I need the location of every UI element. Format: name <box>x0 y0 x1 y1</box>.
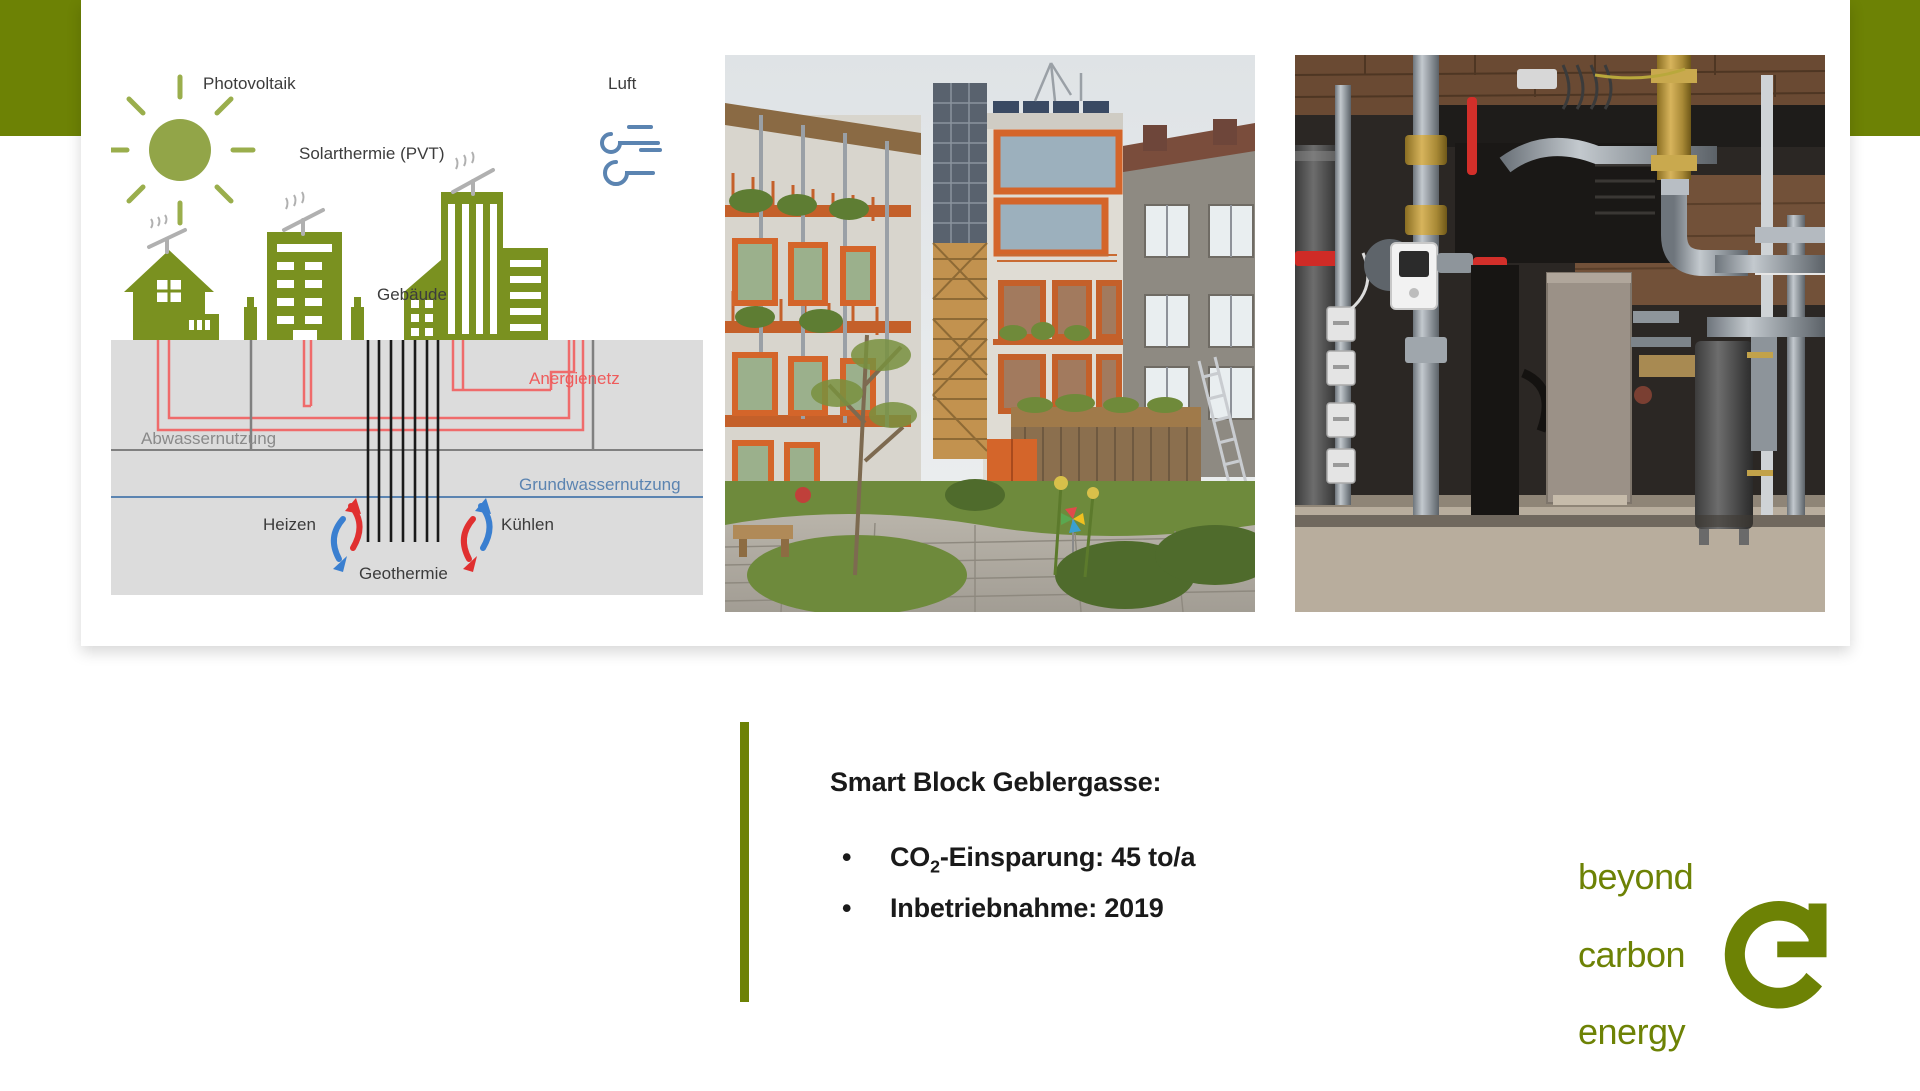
photo-plantroom <box>1295 55 1825 612</box>
caption-title: Smart Block Geblergasse: <box>830 722 1430 798</box>
corner-block-right <box>1850 0 1920 136</box>
brand-logo: beyond carbon energy <box>1578 890 1878 1020</box>
label-grundwassernutzung: Grundwassernutzung <box>519 475 681 494</box>
corner-block-left <box>0 0 81 136</box>
bullet-co2-suffix: -Einsparung: 45 to/a <box>940 842 1196 872</box>
label-geothermie: Geothermie <box>359 564 448 583</box>
logo-line-1: beyond <box>1578 858 1693 897</box>
logo-line-3: energy <box>1578 1013 1693 1052</box>
e-mark-icon <box>1719 899 1831 1011</box>
media-card: .dlbl { font-family:"Liberation Sans", s… <box>81 0 1850 646</box>
caption-accent-bar <box>740 722 749 1002</box>
photo-courtyard <box>725 55 1255 612</box>
label-solarthermie: Solarthermie (PVT) <box>299 144 444 163</box>
energy-concept-diagram: .dlbl { font-family:"Liberation Sans", s… <box>111 42 703 599</box>
logo-line-2: carbon <box>1578 936 1693 975</box>
bullet-co2-subscript: 2 <box>930 856 940 876</box>
bullet-marker: • <box>842 844 890 871</box>
label-luft: Luft <box>608 74 637 93</box>
label-kuehlen: Kühlen <box>501 515 554 534</box>
media-row: .dlbl { font-family:"Liberation Sans", s… <box>81 0 1850 646</box>
list-item: • CO2-Einsparung: 45 to/a <box>830 842 1430 877</box>
label-heizen: Heizen <box>263 515 316 534</box>
label-abwassernutzung: Abwassernutzung <box>141 429 276 448</box>
label-gebaeude: Gebäude <box>377 285 447 304</box>
label-anergienetz: Anergienetz <box>529 369 620 388</box>
bullet-co2-prefix: CO <box>890 842 930 872</box>
label-photovoltaik: Photovoltaik <box>203 74 296 93</box>
caption-bullet-list: • CO2-Einsparung: 45 to/a • Inbetriebnah… <box>830 798 1430 924</box>
bullet-label-commissioning: Inbetriebnahme: 2019 <box>890 893 1164 924</box>
bullet-label-co2: CO2-Einsparung: 45 to/a <box>890 842 1195 877</box>
logo-wordmark: beyond carbon energy <box>1578 819 1693 1091</box>
caption-body: Smart Block Geblergasse: • CO2-Einsparun… <box>830 722 1430 940</box>
bullet-marker: • <box>842 895 890 922</box>
borehole-lines <box>368 340 438 542</box>
list-item: • Inbetriebnahme: 2019 <box>830 893 1430 924</box>
